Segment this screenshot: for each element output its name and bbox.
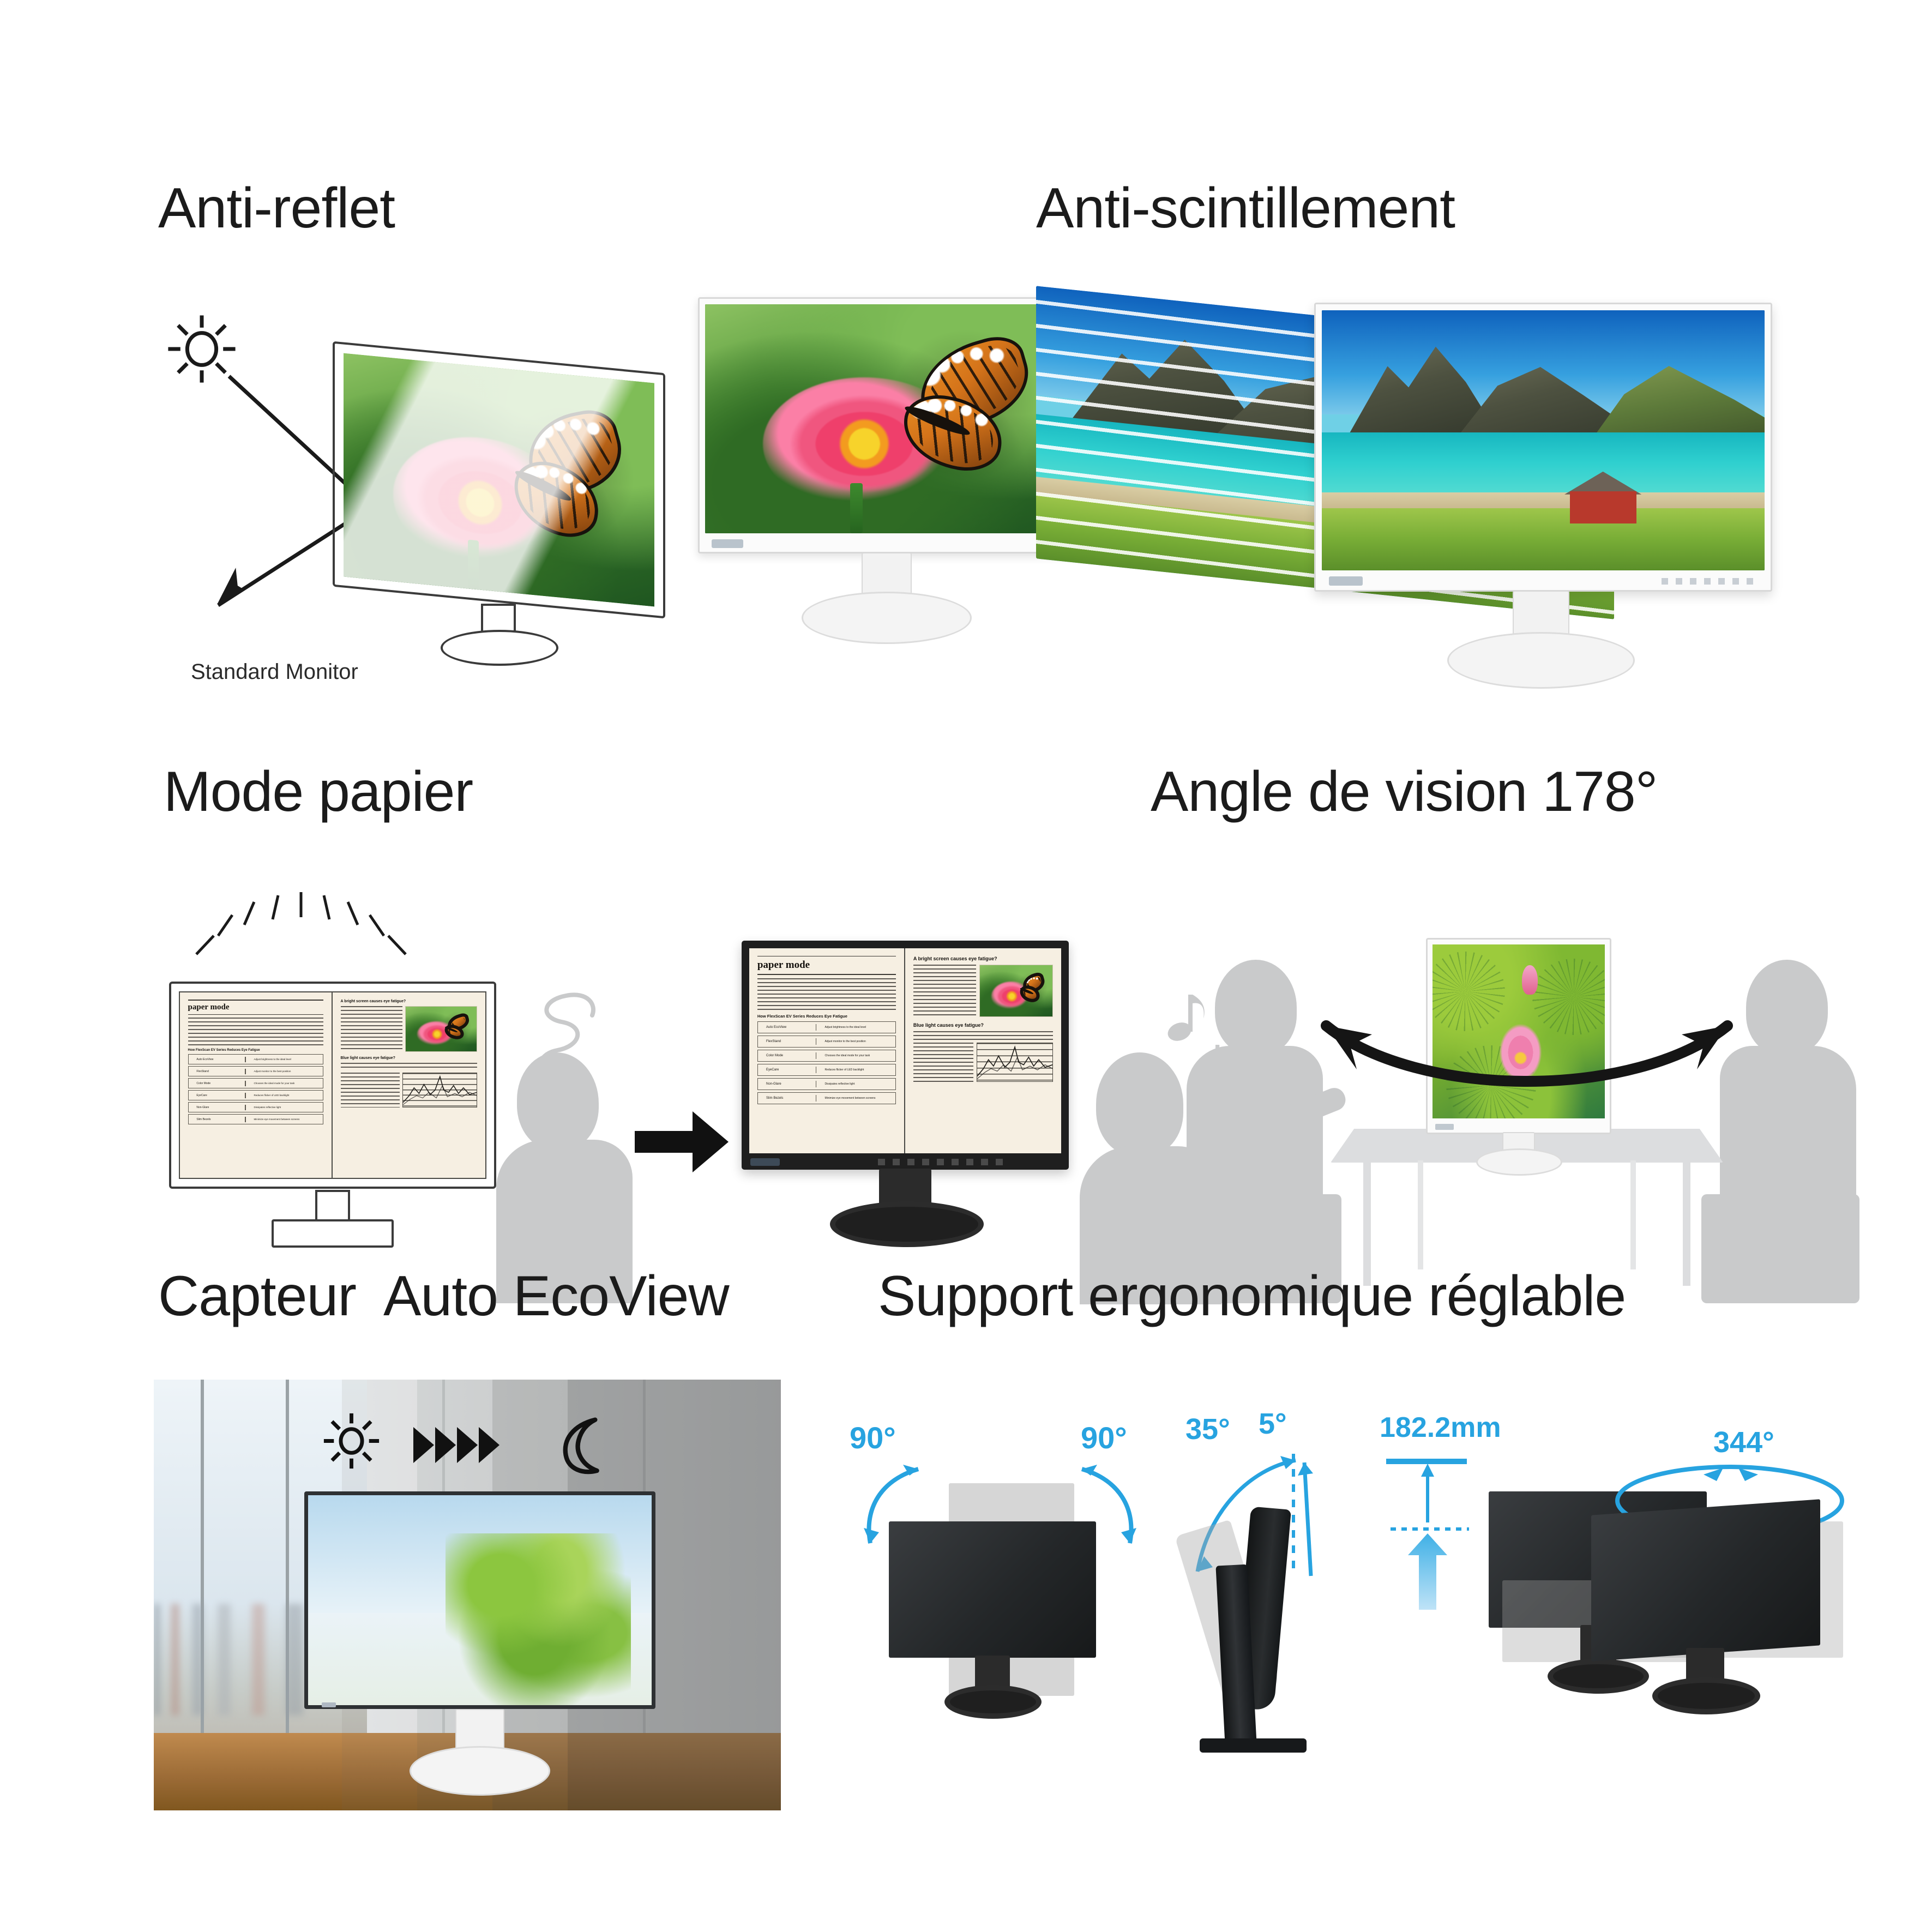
tilt-illustration: 35° 5° [1178, 1407, 1352, 1789]
monitor-base-ring [1476, 1148, 1562, 1176]
section-title-support-ergonomique: Support ergonomique réglable [878, 1268, 1859, 1325]
pivot-illustration: 90° 90° [856, 1412, 1194, 1783]
eizo-monitor-auto-ecoview [304, 1491, 655, 1802]
monitor-swivelled [1591, 1499, 1820, 1661]
screen-image-flower-butterfly-clean [705, 304, 1067, 533]
paper-mode-title: paper mode [757, 959, 896, 971]
monitor-base-ring [830, 1201, 984, 1247]
paper-mode-intro-text [188, 1018, 324, 1046]
monitor-base-ring [1652, 1677, 1760, 1714]
paper-mode-title: paper mode [188, 1003, 324, 1012]
paper-mode-body-3 [913, 1043, 973, 1082]
section-title-anti-scintillement: Anti-scintillement [1036, 180, 1854, 237]
section-title-angle-de-vision: Angle de vision 178° [1151, 763, 1914, 820]
stand-foot [1200, 1738, 1307, 1753]
eizo-logo [712, 539, 743, 548]
paper-mode-subheading: How FlexScan EV Series Reduces Eye Fatig… [188, 1049, 324, 1052]
squiggle-frustration-icon [529, 987, 627, 1096]
section-title-mode-papier: Mode papier [164, 763, 927, 820]
eizo-logo [1329, 576, 1363, 586]
paper-mode-body-1 [913, 965, 976, 1017]
panel-anti-scintillement [1025, 311, 1876, 703]
standard-monitor-illustration [333, 357, 693, 663]
eizo-monitor-anti-scintillement [1314, 303, 1794, 701]
annotation-tilt-back-angle: 35° [1185, 1412, 1230, 1446]
panel-mode-papier: paper mode How FlexScan EV Series Reduce… [153, 889, 1003, 1303]
eizo-logo [322, 1702, 336, 1707]
annotation-pivot-right-angle: 90° [1081, 1420, 1127, 1455]
paper-mode-heading-1: A bright screen causes eye fatigue? [341, 1000, 478, 1003]
plant-image [446, 1533, 631, 1705]
paper-mode-subheading: How FlexScan EV Series Reduces Eye Fatig… [757, 1014, 896, 1019]
monitor-neck [315, 1190, 350, 1221]
paper-mode-heading-1: A bright screen causes eye fatigue? [913, 956, 1053, 961]
office-photo [154, 1380, 781, 1810]
monitor-base-ring [944, 1685, 1042, 1719]
sun-icon [320, 1410, 383, 1472]
section-title-capteur-auto-ecoview: Capteur Auto EcoView [158, 1268, 976, 1325]
monitor-base [441, 630, 558, 666]
infographic-sheet: Anti-reflet [0, 0, 1932, 1932]
monitor-base-ring [1447, 632, 1635, 689]
eizo-logo [1435, 1124, 1454, 1130]
paper-mode-screen-after: paper mode How FlexScan EV Series Reduce… [749, 948, 1061, 1153]
double-headed-arrow-icon [1287, 1006, 1767, 1104]
monitor-base-ring [802, 592, 972, 644]
paper-mode-intro-text [757, 978, 896, 1010]
paper-mode-feature-list: Auto EcoViewAdjust brightness to the ide… [757, 1021, 896, 1104]
annotation-tilt-forward-angle: 5° [1259, 1407, 1287, 1441]
paper-mode-before-monitor: paper mode How FlexScan EV Series Reduce… [169, 982, 518, 1287]
arrow-right-icon [633, 1107, 731, 1178]
standard-monitor-caption: Standard Monitor [191, 660, 358, 684]
glare-band [344, 353, 654, 607]
annotation-height-adjustment: 182.2mm [1380, 1411, 1501, 1444]
moon-icon [555, 1416, 610, 1476]
annotation-pivot-left-angle: 90° [850, 1420, 896, 1455]
osd-button-row[interactable] [1662, 578, 1754, 585]
triangle-arrow-icon [411, 1421, 507, 1470]
annotation-swivel-angle: 344° [1713, 1425, 1774, 1459]
panel-support-ergonomique: 90° 90° 35° 5° [856, 1407, 1903, 1810]
monitor-landscape [889, 1521, 1096, 1658]
paper-mode-after-monitor: paper mode How FlexScan EV Series Reduce… [742, 941, 1091, 1290]
swivel-illustration: 344° [1560, 1407, 1909, 1789]
panel-anti-reflet: Standard Monitor [153, 305, 971, 698]
paper-mode-heading-2: Blue light causes eye fatigue? [341, 1056, 478, 1060]
paper-mode-heading-2: Blue light causes eye fatigue? [913, 1022, 1053, 1028]
paper-mode-feature-list: Auto EcoViewAdjust brightness to the ide… [188, 1054, 324, 1124]
panel-capteur-auto-ecoview [154, 1380, 781, 1810]
paper-mode-screen-before: paper mode How FlexScan EV Series Reduce… [179, 991, 486, 1179]
paper-mode-body-2 [913, 1031, 1053, 1040]
monitor-base [272, 1219, 394, 1248]
eizo-logo [750, 1158, 780, 1166]
monitor-base-ring [410, 1746, 550, 1796]
screen-image-fjord-clean [1322, 310, 1765, 570]
height-gauge-icon [1380, 1450, 1472, 1614]
osd-button-row[interactable] [878, 1159, 1003, 1165]
spectrum-graph [977, 1043, 1053, 1082]
section-title-anti-reflet: Anti-reflet [158, 180, 922, 237]
